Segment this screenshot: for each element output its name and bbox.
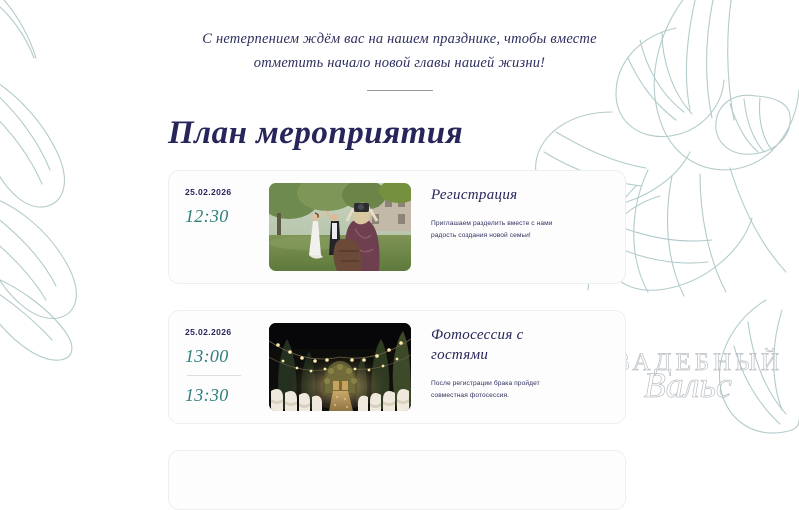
page-title: План мероприятия: [168, 117, 799, 150]
event-card[interactable]: 25.02.2026 12:30: [168, 170, 626, 284]
event-title: Регистрация: [431, 185, 551, 205]
event-date: 25.02.2026: [185, 327, 263, 337]
event-card[interactable]: 25.02.2026 13:00 13:30: [168, 310, 626, 424]
event-time-column: 25.02.2026 12:30: [185, 183, 263, 227]
wedding-outdoor-registration-photo: [269, 183, 411, 271]
event-text-column: Фотосессия с гостями После регистрации б…: [411, 323, 611, 402]
intro-line-2: отметить начало новой главы нашей жизни!: [190, 52, 610, 76]
invitation-page: С нетерпением ждём вас на нашем праздник…: [0, 0, 799, 449]
intro-text-block: С нетерпением ждём вас на нашем праздник…: [190, 0, 610, 76]
event-description-line-1: После регистрации брака пройдет: [431, 378, 581, 390]
intro-line-1: С нетерпением ждём вас на нашем праздник…: [190, 28, 610, 52]
wedding-night-ceremony-photo: [269, 323, 411, 411]
event-description-line-2: радость создания новой семьи!: [431, 230, 581, 242]
event-description: Приглашаем разделить вместе с нами радос…: [431, 218, 581, 241]
event-photo-column: [269, 183, 411, 271]
event-text-column: Регистрация Приглашаем разделить вместе …: [411, 183, 611, 241]
event-description-line-1: Приглашаем разделить вместе с нами: [431, 218, 581, 230]
event-time-start: 13:00: [185, 346, 263, 367]
event-title: Фотосессия с гостями: [431, 325, 551, 366]
event-description-line-2: совместная фотосессия.: [431, 390, 581, 402]
event-description: После регистрации брака пройдет совместн…: [431, 378, 581, 401]
event-photo-column: [269, 323, 411, 411]
event-card-partial[interactable]: [168, 450, 626, 510]
event-time-separator: [187, 375, 241, 376]
event-date: 25.02.2026: [185, 187, 263, 197]
event-schedule-list: 25.02.2026 12:30: [168, 170, 626, 510]
event-time-start: 12:30: [185, 206, 263, 227]
event-time-column: 25.02.2026 13:00 13:30: [185, 323, 263, 406]
event-time-end: 13:30: [185, 385, 263, 406]
intro-divider: [367, 90, 433, 91]
